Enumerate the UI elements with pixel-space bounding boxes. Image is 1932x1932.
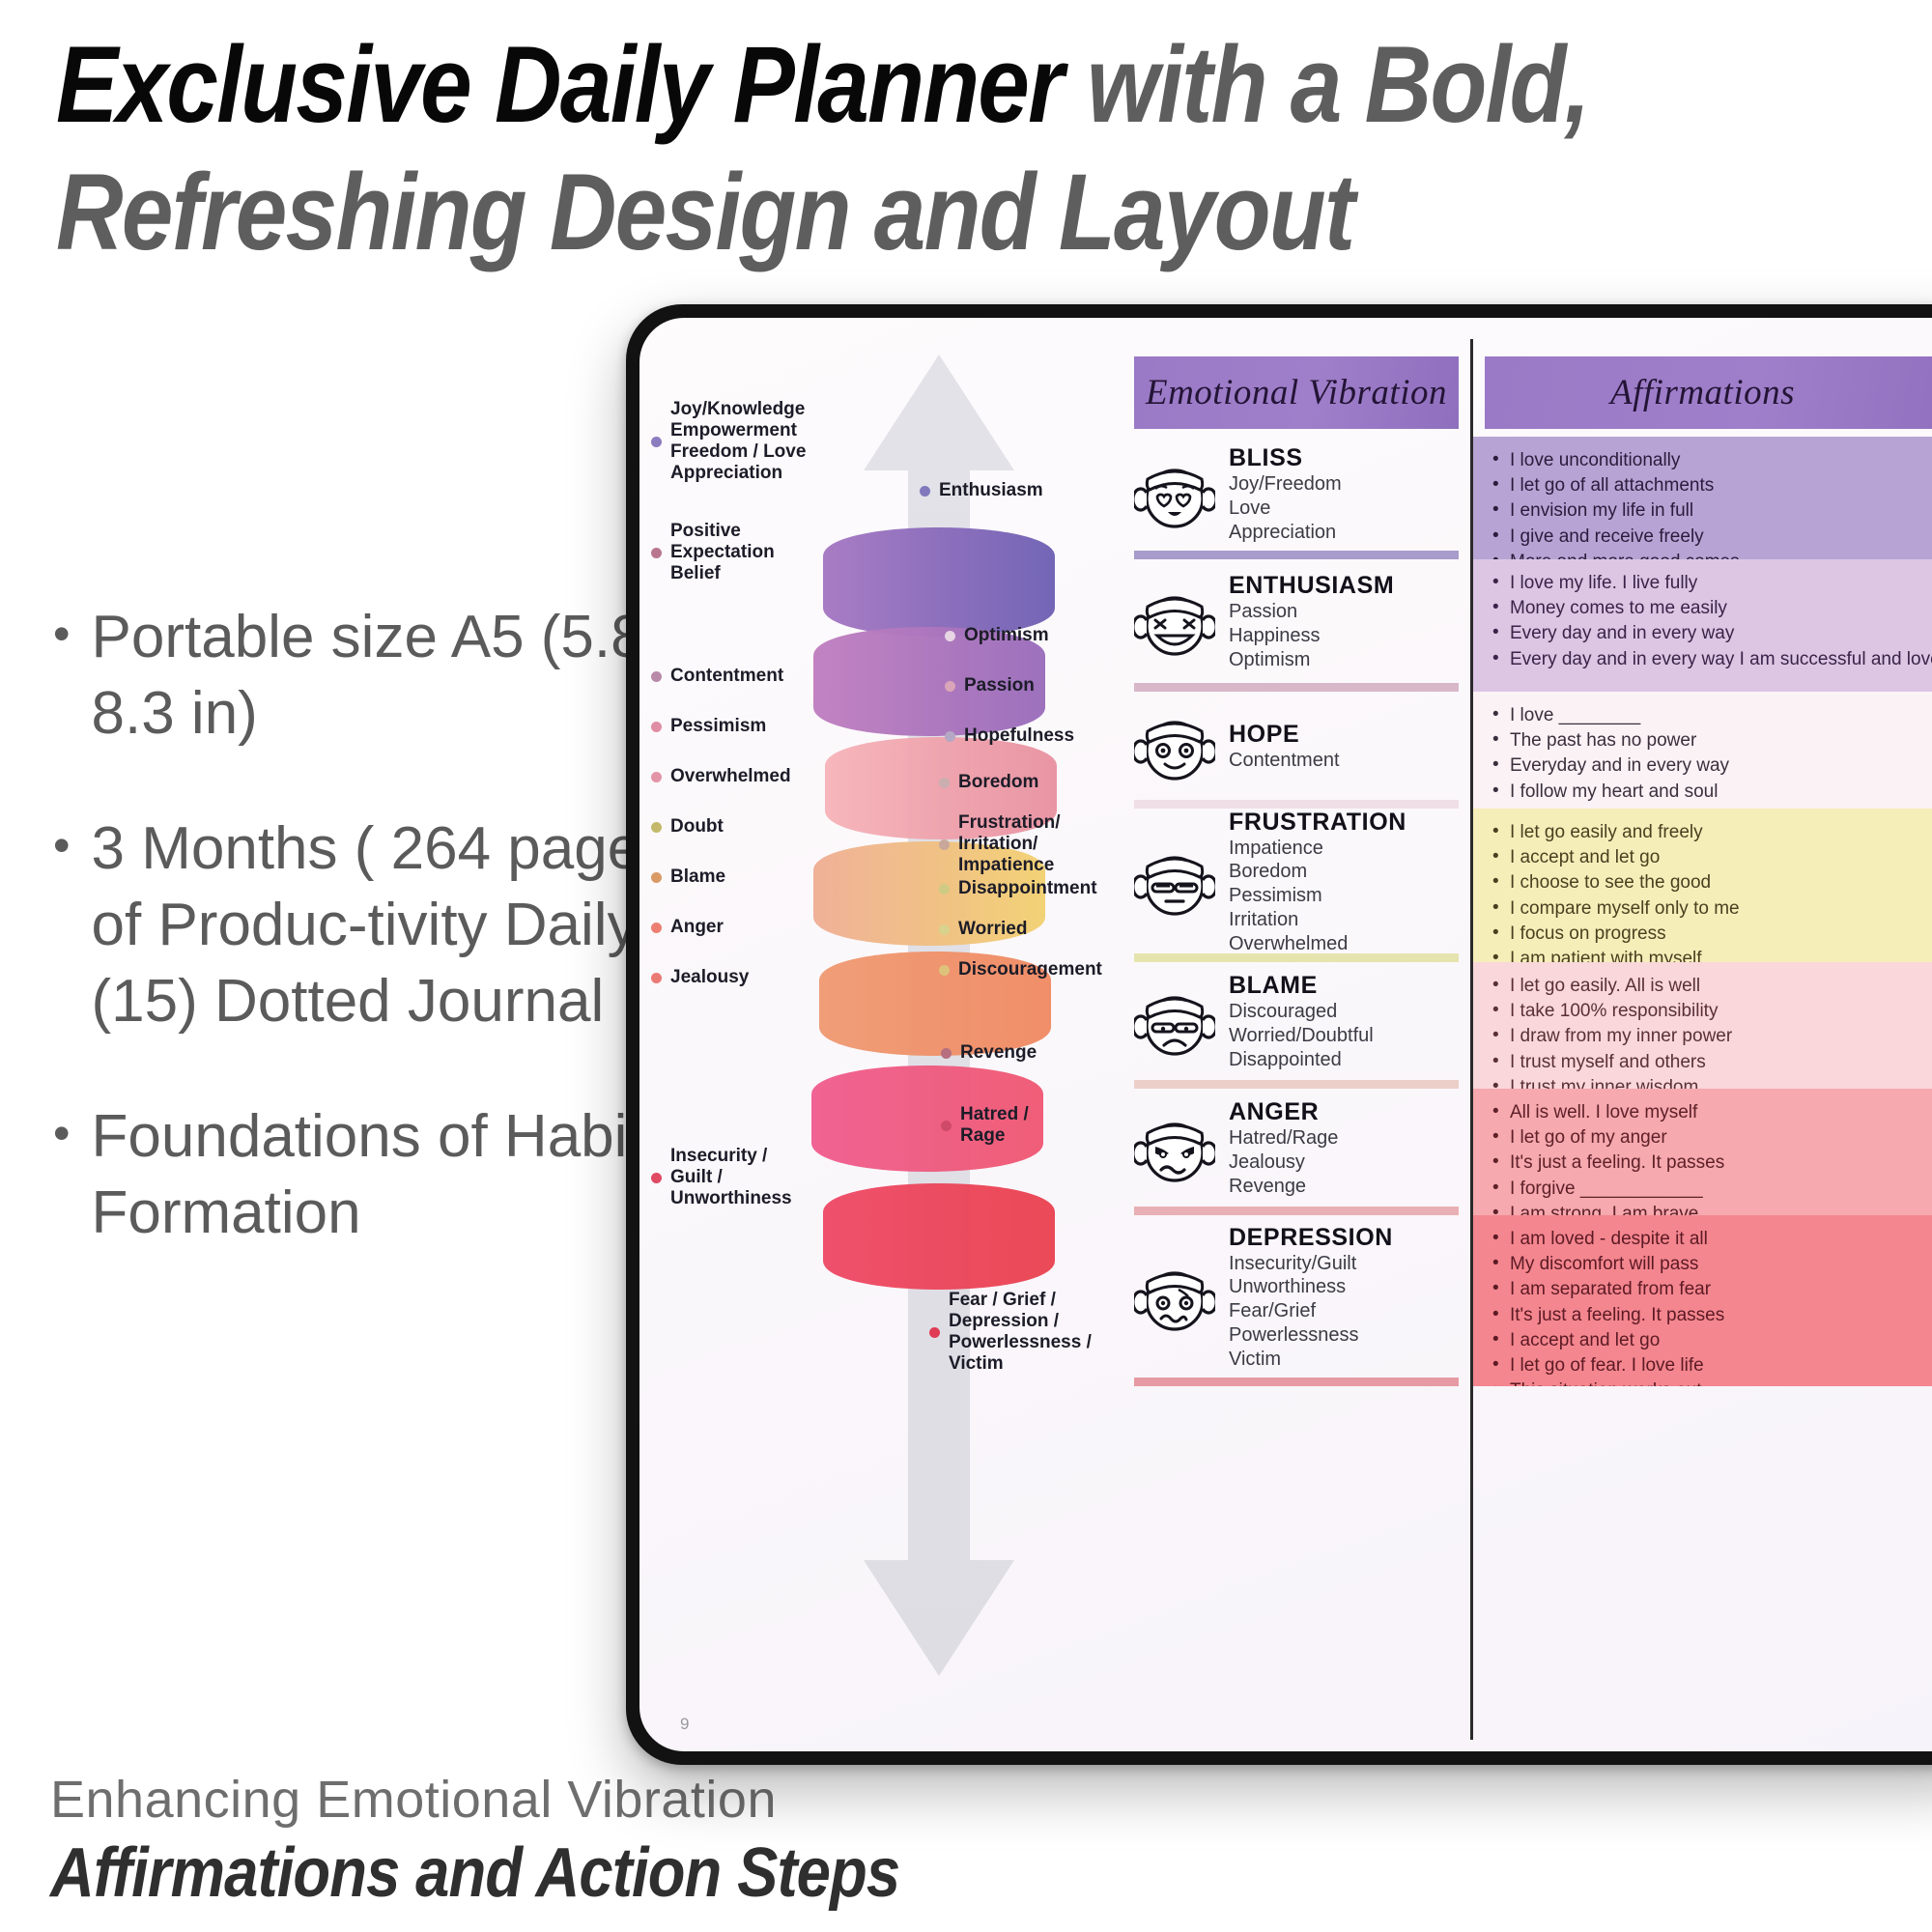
affirmation-item: I draw from my inner power	[1491, 1024, 1932, 1049]
spiral-label-text: Boredom	[958, 772, 1038, 793]
spiral-label-right: Worried	[939, 919, 1027, 940]
headline-gray-2: Refreshing Design and Layout	[56, 152, 1353, 272]
spiral-label-text: Insecurity / Guilt / Unworthiness	[670, 1146, 792, 1209]
spiral-label-right: Discouragement	[939, 959, 1102, 980]
row-divider	[1134, 1378, 1459, 1386]
affirmation-item: My discomfort will pass	[1491, 1252, 1932, 1277]
spiral-label-left: Jealousy	[651, 967, 749, 988]
spiral-label-right: Hatred / Rage	[941, 1104, 1029, 1147]
spiral-label-right: Hopefulness	[945, 725, 1074, 747]
emotion-name: DEPRESSION	[1229, 1224, 1393, 1251]
row-divider	[1134, 551, 1459, 559]
spiral-dot-icon	[939, 884, 950, 895]
spiral-label-right: Frustration/ Irritation/ Impatience	[939, 812, 1061, 876]
affirmation-item: I trust my inner wisdom	[1491, 1075, 1932, 1089]
page-headline: Exclusive Daily Planner with a Bold, Ref…	[56, 21, 1618, 276]
affirmation-item: I let go easily. All is well	[1491, 974, 1932, 999]
spiral-dot-icon	[945, 731, 955, 742]
affirmation-item: I love unconditionally	[1491, 448, 1932, 473]
worried-face	[1134, 1257, 1215, 1338]
spiral-label-text: Blame	[670, 867, 725, 888]
spiral-label-text: Jealousy	[670, 967, 749, 988]
spiral-label-text: Joy/Knowledge Empowerment Freedom / Love…	[670, 399, 806, 484]
affirmation-item: I let go easily and freely	[1491, 820, 1932, 845]
affirmation-item: I am strong. I am brave	[1491, 1202, 1932, 1215]
affirmation-item: I let go of all attachments	[1491, 473, 1932, 498]
affirmation-cell: I let go easily and freelyI accept and l…	[1473, 809, 1932, 962]
spiral-label-text: Positive Expectation Belief	[670, 521, 775, 584]
spiral-dot-icon	[920, 486, 930, 497]
spiral-label-text: Anger	[670, 917, 724, 938]
spiral-label-right: Revenge	[941, 1042, 1037, 1064]
spiral-dot-icon	[651, 872, 662, 883]
spiral-label-left: Doubt	[651, 816, 724, 838]
page-number: 9	[680, 1715, 689, 1734]
spiral-dot-icon	[939, 839, 950, 850]
heart-eyes-face	[1134, 454, 1215, 535]
spiral-dot-icon	[929, 1327, 940, 1338]
affirmation-item: I give and receive freely	[1491, 525, 1932, 550]
spiral-label-text: Overwhelmed	[670, 766, 791, 787]
table-header-emotional-vibration: Emotional Vibration	[1134, 356, 1459, 429]
table-row: BLISSJoy/Freedom Love Appreciation	[1122, 437, 1470, 551]
affirmation-item: I love ________	[1491, 703, 1932, 728]
bullet-dot-icon: •	[53, 810, 71, 1040]
affirmation-cell: All is well. I love myselfI let go of my…	[1473, 1089, 1932, 1215]
spiral-dot-icon	[651, 722, 662, 732]
spiral-label-text: Revenge	[960, 1042, 1037, 1064]
emotion-subtitles: Contentment	[1229, 749, 1459, 773]
spiral-label-left: Pessimism	[651, 716, 766, 737]
affirmation-cell: I love my life. I live fullyMoney comes …	[1473, 559, 1932, 692]
affirmation-item: I follow my heart and soul	[1491, 780, 1932, 805]
row-divider	[1134, 1207, 1459, 1215]
affirmation-item: I trust myself and others	[1491, 1050, 1932, 1075]
tablet-screen: Joy/Knowledge Empowerment Freedom / Love…	[639, 318, 1932, 1751]
affirmation-item: Every day and in every way I am successf…	[1491, 647, 1932, 672]
affirmation-item: I envision my life in full	[1491, 498, 1932, 524]
emotional-vibration-table: Emotional Vibration BLISSJoy/Freedom Lov…	[1122, 339, 1932, 1740]
spiral-label-text: Disappointment	[958, 878, 1097, 899]
emotional-spiral-diagram: Joy/Knowledge Empowerment Freedom / Love…	[639, 318, 1122, 1751]
emotion-name: HOPE	[1229, 721, 1299, 748]
spiral-dot-icon	[941, 1048, 952, 1059]
spiral-label-text: Worried	[958, 919, 1027, 940]
headline-gray-1: with a Bold,	[1063, 24, 1589, 145]
table-row: BLAMEDiscouraged Worried/Doubtful Disapp…	[1122, 962, 1470, 1080]
spiral-label-right: Optimism	[945, 625, 1049, 646]
spiral-dot-icon	[945, 631, 955, 641]
affirmation-item: I forgive ____________	[1491, 1177, 1932, 1202]
spiral-label-text: Optimism	[964, 625, 1049, 646]
spiral-dot-icon	[941, 1121, 952, 1131]
spiral-label-left: Anger	[651, 917, 724, 938]
spiral-label-text: Hatred / Rage	[960, 1104, 1029, 1147]
emotion-subtitles: Hatred/Rage Jealousy Revenge	[1229, 1126, 1459, 1198]
table-row: ANGERHatred/Rage Jealousy Revenge	[1122, 1089, 1470, 1207]
affirmation-item: I am deeply fulfilled	[1491, 805, 1932, 809]
spiral-dot-icon	[651, 437, 662, 447]
affirmation-item: Money comes to me easily	[1491, 596, 1932, 621]
affirmation-item: All is well. I love myself	[1491, 1100, 1932, 1125]
emotion-name: FRUSTRATION	[1229, 809, 1406, 836]
tablet-device-frame: Joy/Knowledge Empowerment Freedom / Love…	[626, 304, 1932, 1765]
affirmation-item: I choose to see the good	[1491, 870, 1932, 895]
laughing-face	[1134, 582, 1215, 663]
spiral-dot-icon	[651, 822, 662, 833]
spiral-label-text: Enthusiasm	[939, 480, 1043, 501]
affirmation-item: I accept and let go	[1491, 845, 1932, 870]
affirmation-item: This situation works out	[1491, 1378, 1932, 1386]
spiral-label-text: Frustration/ Irritation/ Impatience	[958, 812, 1061, 876]
spiral-label-left: Blame	[651, 867, 725, 888]
spiral-label-right: Passion	[945, 675, 1035, 696]
affirmation-item: The past has no power	[1491, 728, 1932, 753]
emotion-subtitles: Passion Happiness Optimism	[1229, 600, 1459, 671]
spiral-label-left: Positive Expectation Belief	[651, 521, 775, 584]
bullet-dot-icon: •	[53, 1098, 71, 1252]
spiral-label-left: Joy/Knowledge Empowerment Freedom / Love…	[651, 399, 806, 484]
spiral-dot-icon	[651, 548, 662, 558]
affirmation-item: More and more good comes	[1491, 550, 1932, 559]
table-header-affirmations: Affirmations	[1485, 356, 1932, 429]
emotion-subtitles: Insecurity/Guilt Unworthiness Fear/Grief…	[1229, 1252, 1459, 1372]
spiral-label-text: Doubt	[670, 816, 724, 838]
spiral-label-left: Contentment	[651, 666, 783, 687]
emotion-name: ENTHUSIASM	[1229, 572, 1394, 599]
caption-subtitle: Enhancing Emotional Vibration	[50, 1770, 777, 1830]
affirmation-item: I take 100% responsibility	[1491, 999, 1932, 1024]
spiral-dot-icon	[939, 778, 950, 788]
emotion-name: BLISS	[1229, 444, 1303, 471]
affirmation-cell: I let go easily. All is wellI take 100% …	[1473, 962, 1932, 1089]
affirmation-item: I accept and let go	[1491, 1328, 1932, 1353]
affirmation-cell: I love ________The past has no powerEver…	[1473, 692, 1932, 809]
row-divider	[1134, 1080, 1459, 1089]
spiral-graphic	[755, 349, 1122, 1682]
sad-face	[1134, 981, 1215, 1063]
spiral-dot-icon	[651, 671, 662, 682]
spiral-label-right: Enthusiasm	[920, 480, 1043, 501]
affirmation-cell: I am loved - despite it allMy discomfort…	[1473, 1215, 1932, 1386]
affirmation-item: I am separated from fear	[1491, 1277, 1932, 1302]
spiral-dot-icon	[945, 681, 955, 692]
spiral-dot-icon	[651, 772, 662, 782]
table-row: FRUSTRATIONImpatience Boredom Pessimism …	[1122, 809, 1470, 953]
spiral-dot-icon	[651, 973, 662, 983]
emotional-vibration-column: Emotional Vibration BLISSJoy/Freedom Lov…	[1122, 339, 1470, 1740]
affirmation-item: I let go of fear. I love life	[1491, 1353, 1932, 1378]
affirmation-item: Every day and in every way	[1491, 621, 1932, 646]
affirmation-item: I am loved - despite it all	[1491, 1227, 1932, 1252]
table-row: HOPEContentment	[1122, 692, 1470, 800]
spiral-dot-icon	[651, 923, 662, 933]
affirmation-item: I compare myself only to me	[1491, 896, 1932, 922]
affirmation-item: I love my life. I live fully	[1491, 571, 1932, 596]
table-row: ENTHUSIASMPassion Happiness Optimism	[1122, 559, 1470, 683]
affirmation-item: Everyday and in every way	[1491, 753, 1932, 779]
emotion-subtitles: Impatience Boredom Pessimism Irritation …	[1229, 837, 1459, 956]
row-divider	[1134, 683, 1459, 692]
affirmation-item: I let go of my anger	[1491, 1125, 1932, 1151]
angry-face	[1134, 1108, 1215, 1189]
spiral-label-right: Fear / Grief / Depression / Powerlessnes…	[929, 1290, 1092, 1375]
headline-bold: Exclusive Daily Planner	[56, 24, 1063, 145]
emotion-name: BLAME	[1229, 972, 1318, 999]
emotion-subtitles: Joy/Freedom Love Appreciation	[1229, 472, 1459, 544]
spiral-dot-icon	[939, 924, 950, 935]
affirmations-column: Affirmations I love unconditionallyI let…	[1470, 339, 1932, 1740]
bored-face	[1134, 841, 1215, 923]
spiral-dot-icon	[939, 965, 950, 976]
emotion-subtitles: Discouraged Worried/Doubtful Disappointe…	[1229, 1000, 1459, 1071]
bullet-dot-icon: •	[53, 599, 71, 753]
affirmation-item: I focus on progress	[1491, 922, 1932, 947]
affirmation-item: It's just a feeling. It passes	[1491, 1303, 1932, 1328]
affirmation-item: I am patient with myself	[1491, 947, 1932, 962]
spiral-label-text: Discouragement	[958, 959, 1102, 980]
emotion-name: ANGER	[1229, 1098, 1319, 1125]
spiral-dot-icon	[651, 1173, 662, 1183]
spiral-label-left: Overwhelmed	[651, 766, 791, 787]
spiral-label-right: Disappointment	[939, 878, 1097, 899]
spiral-label-text: Passion	[964, 675, 1035, 696]
table-row: DEPRESSIONInsecurity/Guilt Unworthiness …	[1122, 1215, 1470, 1378]
spiral-label-text: Contentment	[670, 666, 783, 687]
spiral-label-text: Hopefulness	[964, 725, 1074, 747]
caption-title: Affirmations and Action Steps	[50, 1833, 899, 1913]
spiral-label-text: Pessimism	[670, 716, 766, 737]
spiral-label-text: Fear / Grief / Depression / Powerlessnes…	[949, 1290, 1092, 1375]
affirmation-item: It's just a feeling. It passes	[1491, 1151, 1932, 1176]
affirmation-cell: I love unconditionallyI let go of all at…	[1473, 437, 1932, 559]
wide-eyes-smile-face	[1134, 706, 1215, 787]
spiral-label-right: Boredom	[939, 772, 1038, 793]
spiral-label-left: Insecurity / Guilt / Unworthiness	[651, 1146, 792, 1209]
